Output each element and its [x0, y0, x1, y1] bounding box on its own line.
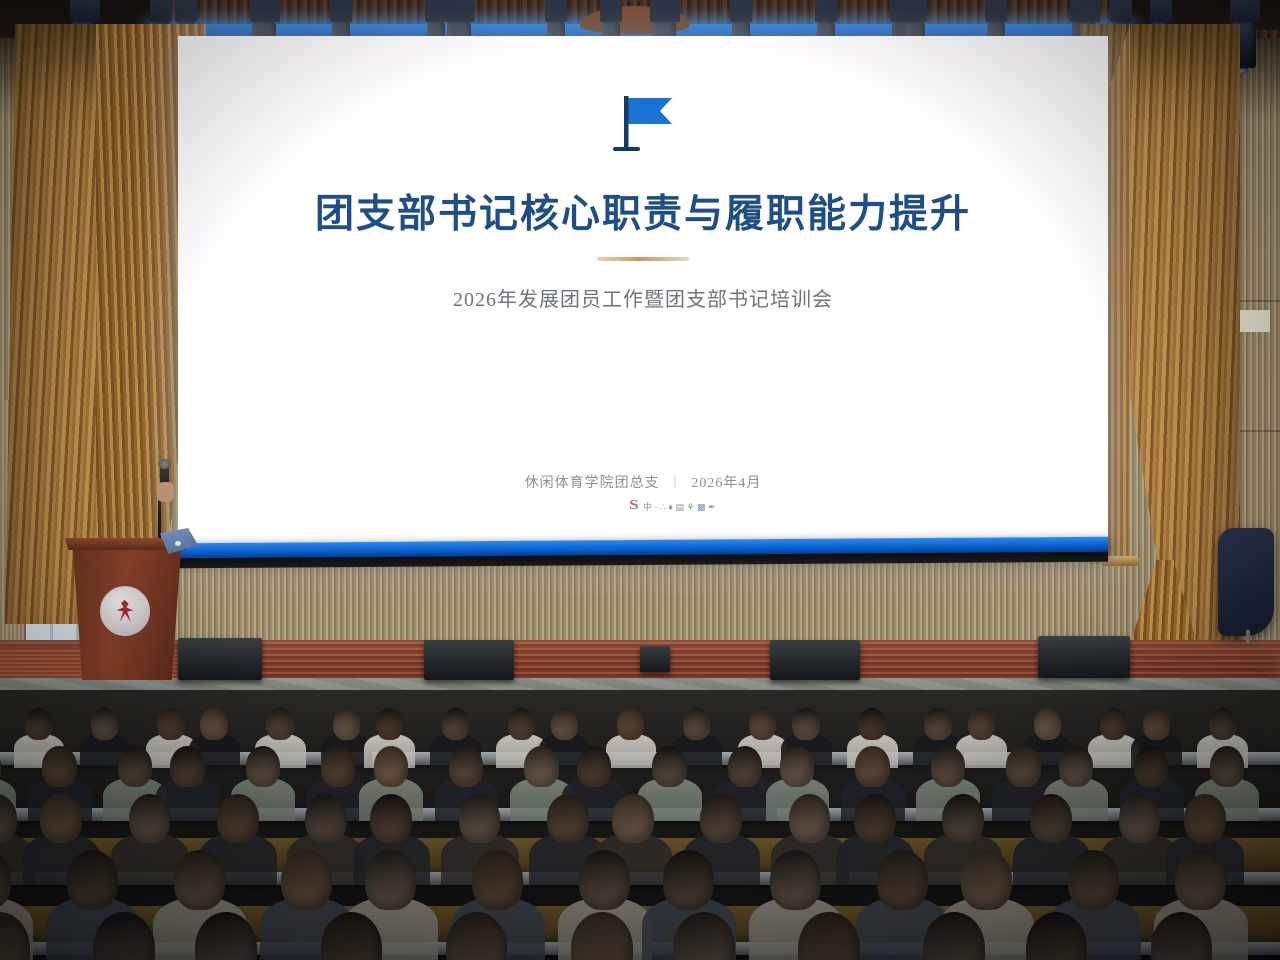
audience-member-head	[200, 708, 227, 740]
audience-member-head	[118, 746, 152, 787]
stage-monitor-speaker	[1038, 636, 1130, 678]
watermark-glyphs: 中 · ∴ ♦ ▤ ⚘ ▩ ✒	[643, 500, 715, 513]
audience-member-head	[1119, 794, 1161, 843]
slide-subtitle: 2026年发展团员工作暨团支部书记培训会	[453, 283, 833, 312]
audience-member-head	[728, 746, 762, 787]
audience-member-head	[579, 850, 630, 910]
audience-member-head	[1068, 850, 1119, 910]
audience-member-head	[1034, 708, 1061, 740]
audience-member-head	[961, 850, 1012, 910]
audience-member-head	[551, 708, 578, 740]
seated-audience	[0, 690, 1280, 960]
audience-member-head	[652, 746, 686, 787]
slide-footer-org: 休闲体育学院团总支	[525, 472, 660, 492]
audience-member-head	[749, 708, 776, 740]
audience-member-head	[25, 708, 52, 740]
blue-flag-icon	[604, 94, 682, 161]
audience-member-head	[617, 708, 644, 740]
audience-member-head	[1134, 746, 1168, 787]
audience-member-head	[968, 708, 995, 740]
audience-member-head	[1100, 708, 1127, 740]
audience-member-head	[365, 850, 416, 910]
audience-member-head	[472, 850, 523, 910]
audience-member-head	[129, 794, 171, 843]
audience-member-head	[924, 708, 951, 740]
audience-member-head	[780, 746, 814, 787]
audience-member-head	[683, 708, 710, 740]
audience-member-head	[281, 850, 332, 910]
audience-member-head	[305, 794, 347, 843]
audience-member-head	[91, 708, 118, 740]
audience-member-head	[157, 708, 184, 740]
audience-member-head	[1059, 746, 1093, 787]
slide-footer-line: 休闲体育学院团总支 | 2026年4月	[525, 472, 762, 492]
audience-member-head	[1030, 794, 1072, 843]
audience-member-head	[1184, 794, 1226, 843]
stage-monitor-speaker	[178, 638, 262, 680]
stage-monitor-speaker	[640, 646, 670, 672]
audience-member-head	[266, 708, 293, 740]
presenter-hand	[157, 482, 174, 502]
audience-member-head	[942, 794, 984, 843]
slide-footer: 休闲体育学院团总支 | 2026年4月 S 中 · ∴ ♦ ▤ ⚘ ▩ ✒	[178, 472, 1108, 514]
slide-title: 团支部书记核心职责与履职能力提升	[315, 183, 971, 239]
audience-member-head	[663, 850, 714, 910]
audience-member-head	[524, 746, 558, 787]
side-chair[interactable]	[1218, 528, 1274, 636]
audience-member-head	[577, 746, 611, 787]
audience-member-head	[170, 746, 204, 787]
microphone-head-icon	[158, 459, 171, 469]
audience-member-head	[1175, 850, 1226, 910]
university-crest-emblem	[100, 586, 150, 636]
audience-member-head	[1143, 708, 1170, 740]
slide-watermark: S 中 · ∴ ♦ ▤ ⚘ ▩ ✒	[630, 498, 715, 514]
audience-member-head	[370, 794, 412, 843]
presentation-slide: 团支部书记核心职责与履职能力提升 2026年发展团员工作暨团支部书记培训会 休闲…	[178, 36, 1108, 556]
audience-member-head	[508, 708, 535, 740]
audience-member-head	[700, 794, 742, 843]
audience-member-head	[449, 746, 483, 787]
audience-member-head	[612, 794, 654, 843]
stage-monitor-speaker	[770, 640, 860, 680]
slide-footer-date: 2026年4月	[691, 472, 761, 492]
title-divider	[597, 257, 689, 261]
audience-member-head	[877, 850, 928, 910]
audience-member-head	[1210, 746, 1244, 787]
audience-member-head	[217, 794, 259, 843]
crest-athlete-figure-icon	[116, 600, 134, 622]
audience-member-head	[374, 746, 408, 787]
projection-screen: 团支部书记核心职责与履职能力提升 2026年发展团员工作暨团支部书记培训会 休闲…	[178, 36, 1108, 556]
audience-member-head	[1209, 708, 1236, 740]
audience-member-head	[855, 746, 889, 787]
audience-member-head	[459, 794, 501, 843]
audience-member-head	[246, 746, 280, 787]
audience-member-head	[174, 850, 225, 910]
audience-member-head	[333, 708, 360, 740]
auditorium-photo: 团支部书记核心职责与履职能力提升 2026年发展团员工作暨团支部书记培训会 休闲…	[0, 0, 1280, 960]
audience-member-head	[770, 850, 821, 910]
audience-member-head	[67, 850, 118, 910]
audience-member-head	[854, 794, 896, 843]
laptop-indicator-icon	[175, 541, 181, 546]
audience-member-head	[789, 794, 831, 843]
slide-footer-separator: |	[674, 474, 678, 490]
audience-member-head	[792, 708, 819, 740]
audience-member-head	[376, 708, 403, 740]
audience-member-head	[321, 746, 355, 787]
watermark-s-mark: S	[629, 498, 639, 514]
audience-member-head	[442, 708, 469, 740]
audience-member-head	[42, 746, 76, 787]
side-chair-leg	[1246, 630, 1250, 644]
audience-member-head	[931, 746, 965, 787]
audience-member-head	[1006, 746, 1040, 787]
audience-member-head	[547, 794, 589, 843]
audience-member-head	[40, 794, 82, 843]
audience-member-head	[858, 708, 885, 740]
stage-monitor-speaker	[424, 640, 514, 680]
